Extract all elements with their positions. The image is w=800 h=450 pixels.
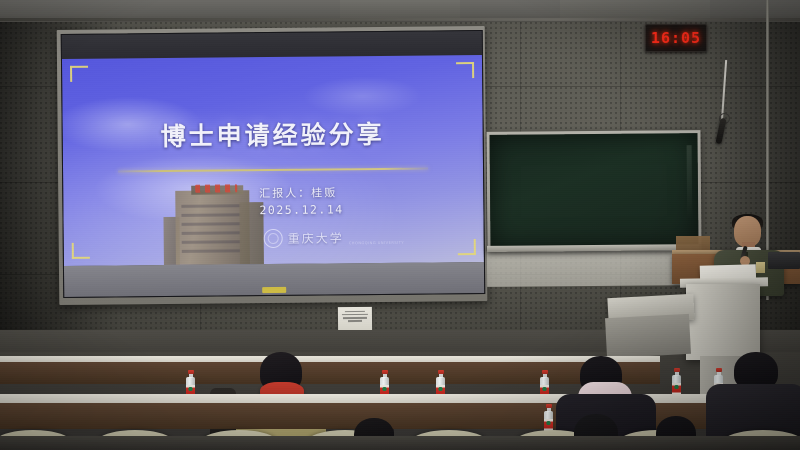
wall-notice-sign [338,307,372,332]
screen-surface: 博士申请经验分享 [61,30,486,298]
digital-clock: 16:05 [645,24,707,52]
blackboard-surface [490,133,699,249]
ceiling-tile [560,0,710,20]
corner-bracket-icon [70,66,88,82]
screen-sticker [262,287,286,293]
corner-bracket-icon [458,239,476,255]
university-seal-icon [264,229,283,248]
lecture-hall-photo: 16:05 博士申请经验分享 [0,0,800,450]
podium-monitor [768,252,800,269]
slide-date: 2025.12.14 [259,201,343,219]
blackboard [486,130,701,252]
projection-screen: 博士申请经验分享 [57,26,488,305]
university-logo: 重庆大学 CHONGQING UNIVERSITY [264,228,405,248]
floor-strip [0,436,800,450]
presenter-line: 汇报人：桂贩 [259,184,343,202]
lectern [686,284,760,360]
corner-bracket-icon [72,243,90,259]
lectern-side-table-body [605,314,691,358]
ceiling-seam [0,18,800,21]
ceiling-tile [340,0,460,20]
university-name-cn: 重庆大学 [288,229,344,247]
building-rooftop-sign [195,184,237,192]
campus-building-photo [161,179,272,265]
clock-time: 16:05 [651,29,701,47]
presentation-slide: 博士申请经验分享 [62,55,484,266]
blackboard-sheen [687,145,693,219]
slide-meta: 汇报人：桂贩 2025.12.14 [259,184,344,219]
slide-title: 博士申请经验分享 [63,114,483,154]
corner-bracket-icon [456,62,474,78]
blackboard-lower-wall [487,249,699,287]
lectern-cup [756,262,765,273]
university-name-en: CHONGQING UNIVERSITY [349,241,404,248]
